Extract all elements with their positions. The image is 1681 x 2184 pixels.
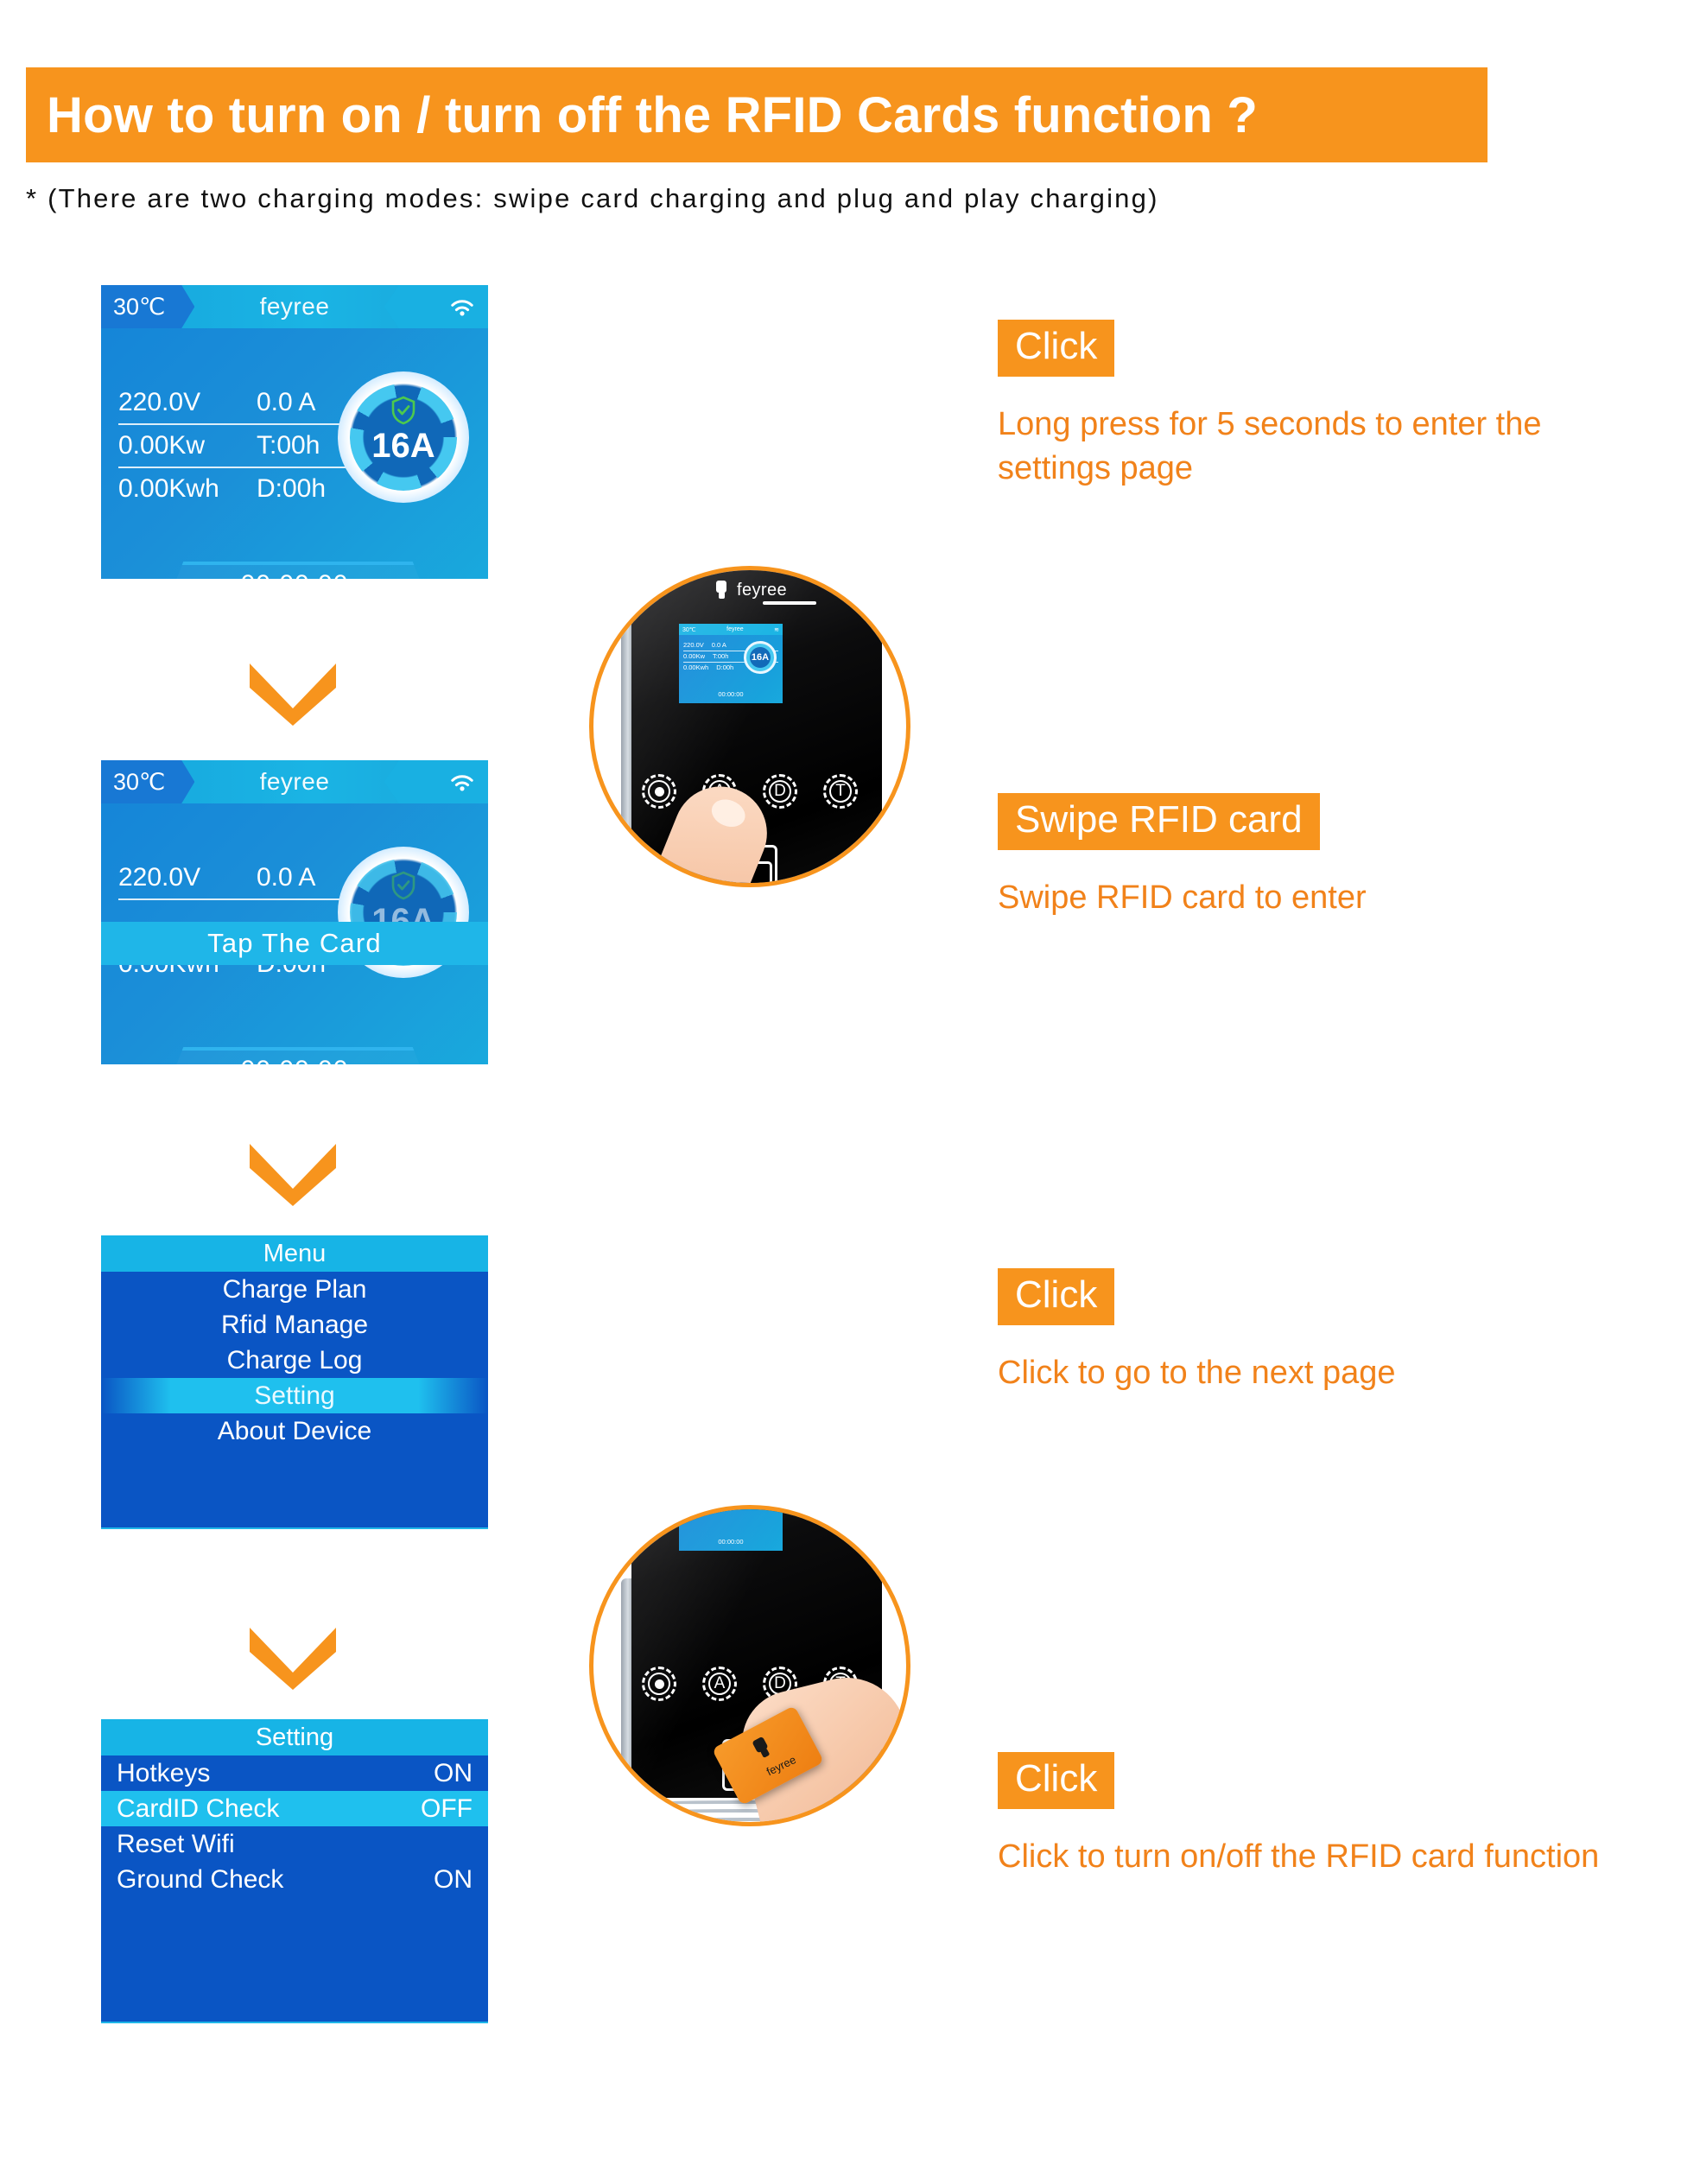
- step-2-text: Swipe RFID card to enter: [998, 876, 1367, 920]
- timer-area-2: 00:00:00: [101, 1040, 488, 1064]
- wifi-icon: [447, 770, 478, 794]
- wifi-icon: [447, 295, 478, 319]
- setting-row-reset-wifi[interactable]: Reset Wifi: [101, 1826, 488, 1862]
- timer-area: 00:00:00: [101, 555, 488, 579]
- current-value-2: 0.0 A: [257, 863, 315, 892]
- setting-nav-bar: [101, 2022, 488, 2023]
- menu-item-charge-log[interactable]: Charge Log: [101, 1343, 488, 1378]
- energy-value: 0.00Kwh: [118, 474, 257, 504]
- step-2: 30℃ feyree 220.0V 0.0 A: [0, 760, 1681, 1123]
- lcd-screen-home: 30℃ feyree 220.0V 0.0 A: [101, 285, 488, 579]
- button-a[interactable]: A: [702, 1667, 737, 1701]
- wifi-status-chip: [384, 285, 488, 328]
- setting-label-hotkeys: Hotkeys: [117, 1759, 210, 1788]
- chevron-down-icon: [246, 1622, 339, 1690]
- power-button[interactable]: [642, 1667, 676, 1701]
- current-gauge: 16A: [338, 371, 469, 503]
- step-2-badge: Swipe RFID card: [998, 793, 1320, 850]
- setting-label-reset-wifi: Reset Wifi: [117, 1830, 235, 1859]
- setting-value-ground-check: ON: [434, 1865, 473, 1895]
- setting-row-cardid-check[interactable]: CardID Check OFF: [101, 1791, 488, 1826]
- page-title-banner: How to turn on / turn off the RFID Cards…: [26, 67, 1488, 162]
- shield-check-icon: [390, 396, 416, 425]
- annotation-step-4: Click Click to turn on/off the RFID card…: [998, 1752, 1599, 1879]
- menu-item-setting[interactable]: Setting: [101, 1378, 488, 1413]
- menu-item-rfid-manage[interactable]: Rfid Manage: [101, 1307, 488, 1343]
- reading-row-energy: 0.00Kwh D:00h: [118, 468, 377, 510]
- step-4: Setting Hotkeys ON CardID Check OFF Rese…: [0, 1719, 1681, 2108]
- page-subtitle: * (There are two charging modes: swipe c…: [26, 183, 1159, 214]
- page-title: How to turn on / turn off the RFID Cards…: [26, 86, 1258, 144]
- lcd-screen-setting: Setting Hotkeys ON CardID Check OFF Rese…: [101, 1719, 488, 2023]
- setting-value-cardid-check: OFF: [421, 1794, 473, 1824]
- current-value: 0.0 A: [257, 388, 315, 417]
- lcd-status-bar: 30℃ feyree: [101, 285, 488, 328]
- tap-the-card-banner: Tap The Card: [101, 922, 488, 965]
- lcd-screen-tap-card: 30℃ feyree 220.0V 0.0 A: [101, 760, 488, 1064]
- setting-title: Setting: [101, 1719, 488, 1755]
- chevron-down-icon: [246, 658, 339, 726]
- step-3-text: Click to go to the next page: [998, 1351, 1396, 1395]
- shield-check-icon: [390, 871, 416, 900]
- wifi-status-chip-2: [384, 760, 488, 803]
- lcd-status-bar-2: 30℃ feyree: [101, 760, 488, 803]
- flow-arrow-2: [246, 1139, 339, 1206]
- menu-title: Menu: [101, 1235, 488, 1272]
- power-button-ring: [648, 1673, 670, 1695]
- setting-row-hotkeys[interactable]: Hotkeys ON: [101, 1755, 488, 1791]
- menu-item-charge-plan[interactable]: Charge Plan: [101, 1272, 488, 1307]
- button-a-ring: [708, 1673, 731, 1695]
- setting-list: Hotkeys ON CardID Check OFF Reset Wifi G…: [101, 1755, 488, 2023]
- annotation-step-3: Click Click to go to the next page: [998, 1268, 1396, 1395]
- menu-nav-bar: [101, 1527, 488, 1529]
- voltage-value-2: 220.0V: [118, 863, 257, 892]
- reading-row-voltage: 220.0V 0.0 A: [118, 382, 377, 425]
- time-value: T:00h: [257, 431, 320, 460]
- step-1-text: Long press for 5 seconds to enter the se…: [998, 403, 1602, 492]
- annotation-step-2: Swipe RFID card Swipe RFID card to enter: [998, 793, 1367, 920]
- timer-value-2: 00:00:00: [101, 1056, 488, 1064]
- lcd-body-2: 220.0V 0.0 A 0.00Kwh D:00h: [101, 803, 488, 1064]
- flow-arrow-1: [246, 658, 339, 726]
- timer-value: 00:00:00: [101, 570, 488, 579]
- duration-value: D:00h: [257, 474, 326, 504]
- setting-value-hotkeys: ON: [434, 1759, 473, 1788]
- power-value: 0.00Kw: [118, 431, 257, 460]
- menu-item-about-device[interactable]: About Device: [101, 1413, 488, 1449]
- chevron-down-icon: [246, 1139, 339, 1206]
- menu-list: Charge Plan Rfid Manage Charge Log Setti…: [101, 1272, 488, 1529]
- infographic-page: How to turn on / turn off the RFID Cards…: [0, 0, 1681, 2184]
- step-4-text: Click to turn on/off the RFID card funct…: [998, 1835, 1599, 1879]
- step-1-badge: Click: [998, 320, 1114, 377]
- step-4-badge: Click: [998, 1752, 1114, 1809]
- step-3: Menu Charge Plan Rfid Manage Charge Log …: [0, 1235, 1681, 1598]
- annotation-step-1: Click Long press for 5 seconds to enter …: [998, 320, 1602, 492]
- flow-arrow-3: [246, 1622, 339, 1690]
- setting-label-ground-check: Ground Check: [117, 1865, 283, 1895]
- step-3-badge: Click: [998, 1268, 1114, 1325]
- reading-row-voltage-2: 220.0V 0.0 A: [118, 857, 377, 900]
- step-1: 30℃ feyree 220.0V 0.0 A: [0, 285, 1681, 648]
- gauge-amp-value: 16A: [338, 427, 469, 466]
- setting-row-ground-check[interactable]: Ground Check ON: [101, 1862, 488, 1897]
- setting-label-cardid-check: CardID Check: [117, 1794, 279, 1824]
- lcd-body: 220.0V 0.0 A 0.00Kw T:00h 0.00Kwh D:00h: [101, 328, 488, 579]
- voltage-value: 220.0V: [118, 388, 257, 417]
- lcd-screen-menu: Menu Charge Plan Rfid Manage Charge Log …: [101, 1235, 488, 1529]
